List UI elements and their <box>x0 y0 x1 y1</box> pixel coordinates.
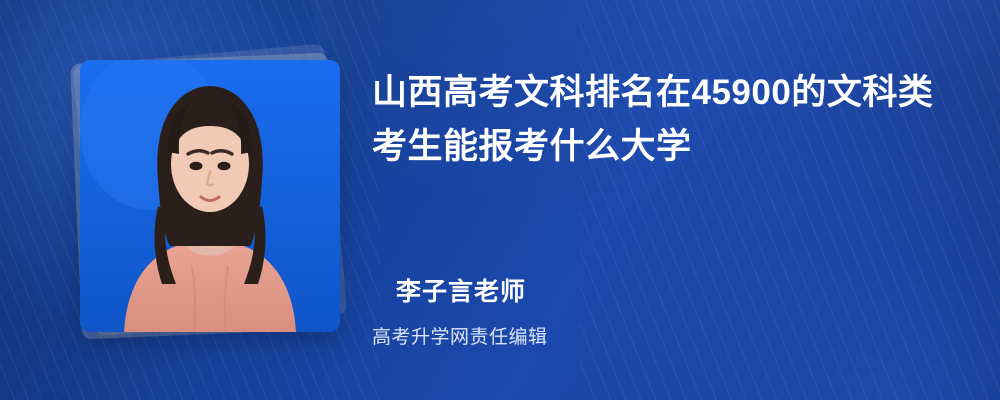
article-banner: 山西高考文科排名在45900的文科类考生能报考什么大学 李子言老师 高考升学网责… <box>0 0 1000 400</box>
author-role: 高考升学网责任编辑 <box>372 322 548 349</box>
diagonal-lines-right <box>580 0 1000 400</box>
portrait-photo <box>80 60 340 332</box>
author-name: 李子言老师 <box>396 272 526 308</box>
photo-card-stack <box>62 42 362 342</box>
page-title: 山西高考文科排名在45900的文科类考生能报考什么大学 <box>372 66 962 175</box>
